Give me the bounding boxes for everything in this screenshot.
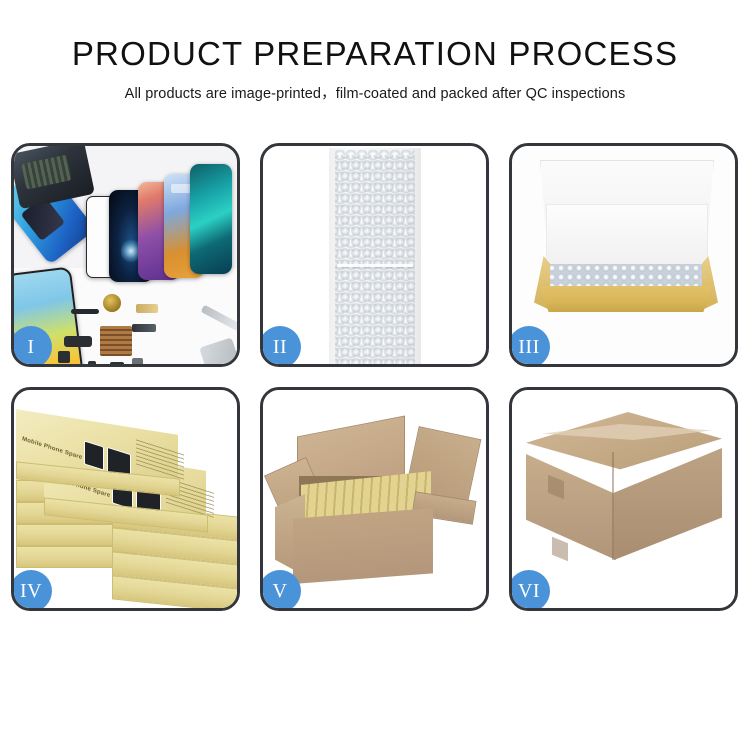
process-step-panel-4[interactable]: Mobile Phone Spare Parts Mobile Phone Sp…: [11, 387, 240, 611]
process-step-panel-3[interactable]: III: [509, 143, 738, 367]
wrapped-item-in-box-icon: [548, 264, 702, 288]
step-badge-1: I: [11, 326, 52, 367]
bubble-wrap-bubbles-layer-icon: [335, 155, 415, 364]
adhesive-strip-part-icon: [71, 309, 99, 314]
carton-front-face-icon: [293, 508, 433, 584]
page-subtitle: All products are image-printed，film-coat…: [0, 82, 750, 103]
step-badge-5: V: [260, 570, 301, 611]
process-step-panel-6[interactable]: VI: [509, 387, 738, 611]
speaker-part-icon: [110, 362, 124, 364]
step-4-illustration: Mobile Phone Spare Parts Mobile Phone Sp…: [14, 390, 237, 608]
screw-plate-part-icon: [100, 326, 132, 356]
process-step-panel-5[interactable]: V: [260, 387, 489, 611]
ic-chip-part-icon: [132, 358, 143, 364]
process-step-panel-2[interactable]: II: [260, 143, 489, 367]
camera-module-part-icon: [64, 336, 92, 347]
step-badge-3: III: [509, 326, 550, 367]
step-2-illustration: [263, 146, 486, 364]
bubble-wrap-seam: [337, 264, 413, 267]
box-front-panel-icon: [540, 286, 712, 312]
charging-port-part-icon: [132, 324, 156, 332]
process-step-panel-1[interactable]: I: [11, 143, 240, 367]
flex-cable-part-icon: [136, 304, 158, 313]
power-button-part-icon: [88, 361, 96, 364]
box-spec-lines: [136, 438, 184, 479]
carton-corner-seam: [612, 452, 614, 560]
step-3-illustration: [512, 146, 735, 364]
step-5-illustration: [263, 390, 486, 608]
step-badge-2: II: [260, 326, 301, 367]
step-badge-6: VI: [509, 570, 550, 611]
white-foam-insert-icon: [546, 204, 708, 268]
step-1-illustration: [14, 146, 237, 364]
front-camera-part-icon: [58, 351, 70, 363]
page-title: PRODUCT PREPARATION PROCESS: [0, 36, 750, 72]
vibration-motor-part-icon: [103, 294, 121, 312]
box-window-thumb: [84, 440, 104, 470]
teal-wave-phone-icon: [190, 164, 232, 274]
box-stack-icon: Mobile Phone Spare Parts Mobile Phone Sp…: [16, 414, 237, 604]
page-header: PRODUCT PREPARATION PROCESS All products…: [0, 0, 750, 103]
step-badge-4: IV: [11, 570, 52, 611]
process-steps-grid: I II III: [11, 143, 739, 611]
step-6-illustration: [512, 390, 735, 608]
